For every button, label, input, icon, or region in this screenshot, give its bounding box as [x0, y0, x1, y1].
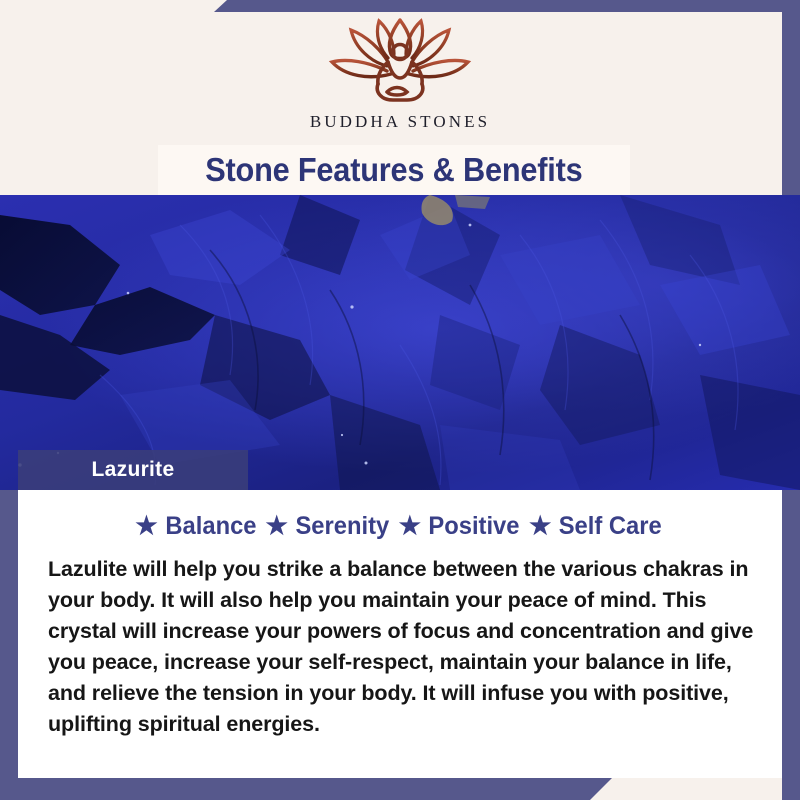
benefit-item-balance: ★ Balance: [135, 512, 258, 541]
lazurite-rock-photo: [0, 195, 800, 490]
frame-accent-left: [0, 490, 18, 800]
benefit-item-positive: ★ Positive: [399, 512, 522, 541]
star-icon: ★: [529, 514, 551, 539]
brand-wordmark: BUDDHA STONES: [0, 112, 800, 132]
page-title: Stone Features & Benefits: [205, 151, 582, 189]
title-banner: Stone Features & Benefits: [158, 145, 630, 195]
stone-photo: [0, 195, 800, 490]
star-icon: ★: [266, 514, 288, 539]
benefit-label: Balance: [165, 512, 256, 541]
lotus-meditation-icon: [325, 14, 475, 106]
benefit-label: Serenity: [295, 512, 389, 541]
frame-accent-bottom: [0, 778, 612, 800]
star-icon: ★: [135, 514, 157, 539]
brand-logo-block: BUDDHA STONES: [0, 14, 800, 132]
stone-name-tag: Lazurite: [18, 450, 248, 490]
stone-benefits-infographic: BUDDHA STONES Stone Features & Benefits: [0, 0, 800, 800]
content-card: ★ Balance ★ Serenity ★ Positive ★ Self C…: [18, 490, 782, 778]
frame-accent-top: [214, 0, 800, 12]
stone-description: Lazulite will help you strike a balance …: [36, 554, 764, 740]
benefit-item-self-care: ★ Self Care: [529, 512, 665, 541]
benefits-row: ★ Balance ★ Serenity ★ Positive ★ Self C…: [36, 512, 764, 541]
benefit-label: Positive: [428, 512, 519, 541]
benefit-label: Self Care: [559, 512, 662, 541]
benefit-item-serenity: ★ Serenity: [266, 512, 392, 541]
star-icon: ★: [399, 514, 421, 539]
stone-name-label: Lazurite: [92, 458, 175, 482]
